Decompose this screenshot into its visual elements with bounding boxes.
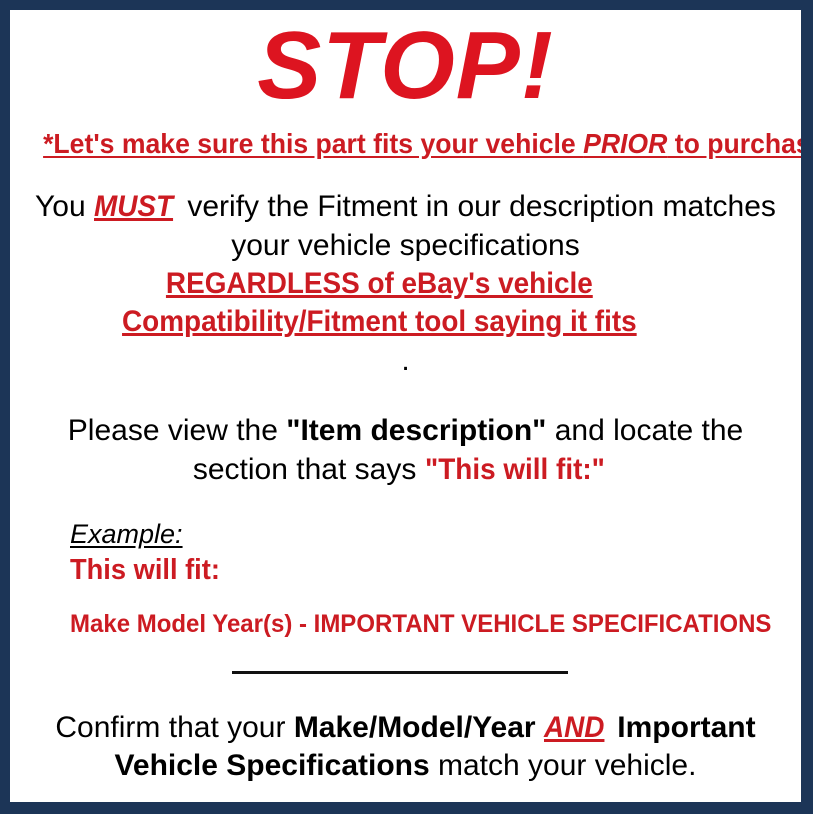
example-label: Example:: [70, 519, 787, 551]
subtitle-banner: *Let's make sure this part fits your veh…: [43, 128, 768, 160]
fitment-warning-poster: STOP! *Let's make sure this part fits yo…: [0, 0, 813, 814]
paragraph-verify-fitment: You MUST verify the Fitment in our descr…: [24, 188, 787, 380]
p3-and-emphasis: AND: [544, 709, 604, 747]
subtitle-emphasis: PRIOR: [583, 128, 667, 159]
p1-regardless-emphasis: REGARDLESS of eBay's vehicle Compatibili…: [32, 265, 727, 342]
page-title: STOP!: [24, 18, 787, 114]
divider: [24, 665, 787, 679]
p3-seg1: Confirm that your: [55, 711, 293, 744]
p2-this-will-fit-quote: "This will fit:": [425, 451, 605, 489]
p1-seg3: .: [401, 344, 409, 377]
divider-rule: [232, 671, 568, 674]
example-fit-line: This will fit:: [70, 553, 220, 588]
p3-space-a: [536, 711, 544, 744]
example-block: Example: This will fit: Make Model Year(…: [24, 519, 787, 639]
example-spec-line: Make Model Year(s) - IMPORTANT VEHICLE S…: [70, 610, 771, 639]
paragraph-item-description: Please view the "Item description" and l…: [24, 412, 787, 489]
p1-must-emphasis: MUST: [94, 188, 173, 226]
subtitle-tail: to purchasing*: [667, 128, 813, 159]
p3-make-model-year: Make/Model/Year: [294, 711, 536, 744]
p3-seg2: match your vehicle.: [430, 749, 697, 782]
poster-content: STOP! *Let's make sure this part fits yo…: [10, 18, 801, 810]
subtitle-lead: *Let's make sure this part fits your veh…: [43, 128, 583, 159]
p1-seg2: verify the Fitment in our description ma…: [179, 190, 776, 261]
paragraph-confirm-match: Confirm that your Make/Model/Year AND Im…: [24, 709, 787, 786]
p2-item-description-quote: "Item description": [286, 414, 546, 447]
p1-seg1: You: [35, 190, 94, 223]
p2-seg1: Please view the: [68, 414, 286, 447]
